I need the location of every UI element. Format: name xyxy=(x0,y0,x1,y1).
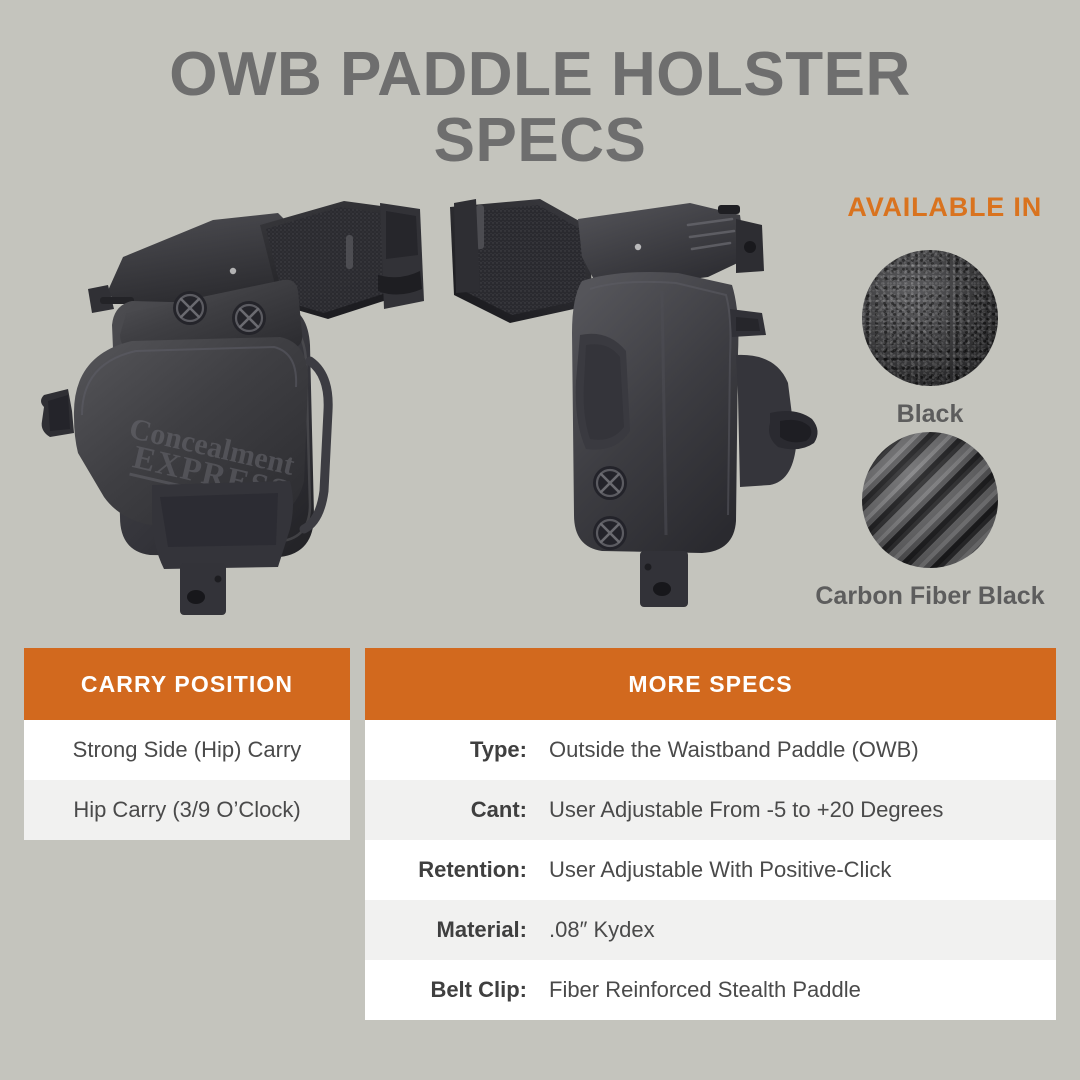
table-row: Retention: User Adjustable With Positive… xyxy=(365,840,1056,900)
more-specs-table: MORE SPECS Type: Outside the Waistband P… xyxy=(365,648,1056,1020)
spec-label-retention: Retention: xyxy=(365,857,537,883)
spec-label-belt-clip: Belt Clip: xyxy=(365,977,537,1003)
spec-value-material: .08″ Kydex xyxy=(537,917,1056,943)
table-row: Strong Side (Hip) Carry xyxy=(24,720,350,780)
spec-value-cant: User Adjustable From -5 to +20 Degrees xyxy=(537,797,1056,823)
page-title-line-2: SPECS xyxy=(0,108,1080,174)
spec-value-belt-clip: Fiber Reinforced Stealth Paddle xyxy=(537,977,1056,1003)
spec-value-type: Outside the Waistband Paddle (OWB) xyxy=(537,737,1056,763)
page-title: OWB PADDLE HOLSTER SPECS xyxy=(0,42,1080,173)
color-swatch-black[interactable]: Black xyxy=(862,250,998,429)
carry-position-value: Hip Carry (3/9 O’Clock) xyxy=(73,797,300,823)
color-swatch-carbon-fiber-black[interactable]: Carbon Fiber Black xyxy=(862,432,998,582)
swatch-label-black: Black xyxy=(862,400,998,429)
holster-front-view: Concealment EXPRESS xyxy=(28,185,428,615)
spec-value-retention: User Adjustable With Positive-Click xyxy=(537,857,1056,883)
carry-position-header: CARRY POSITION xyxy=(24,648,350,720)
swatch-circle-black[interactable] xyxy=(862,250,998,386)
table-row: Hip Carry (3/9 O’Clock) xyxy=(24,780,350,840)
table-row: Cant: User Adjustable From -5 to +20 Deg… xyxy=(365,780,1056,840)
table-row: Belt Clip: Fiber Reinforced Stealth Padd… xyxy=(365,960,1056,1020)
swatch-label-carbon-fiber-text: Carbon Fiber Black xyxy=(815,582,1044,611)
table-row: Type: Outside the Waistband Paddle (OWB) xyxy=(365,720,1056,780)
spec-label-cant: Cant: xyxy=(365,797,537,823)
spec-label-material: Material: xyxy=(365,917,537,943)
available-in-heading: AVAILABLE IN xyxy=(700,192,1042,223)
table-row: Material: .08″ Kydex xyxy=(365,900,1056,960)
swatch-circle-carbon-fiber[interactable] xyxy=(862,432,998,568)
holster-back-view xyxy=(440,185,830,615)
more-specs-header: MORE SPECS xyxy=(365,648,1056,720)
page-title-line-1: OWB PADDLE HOLSTER xyxy=(169,40,911,109)
spec-label-type: Type: xyxy=(365,737,537,763)
carry-position-value: Strong Side (Hip) Carry xyxy=(73,737,302,763)
carry-position-table: CARRY POSITION Strong Side (Hip) Carry H… xyxy=(24,648,350,840)
